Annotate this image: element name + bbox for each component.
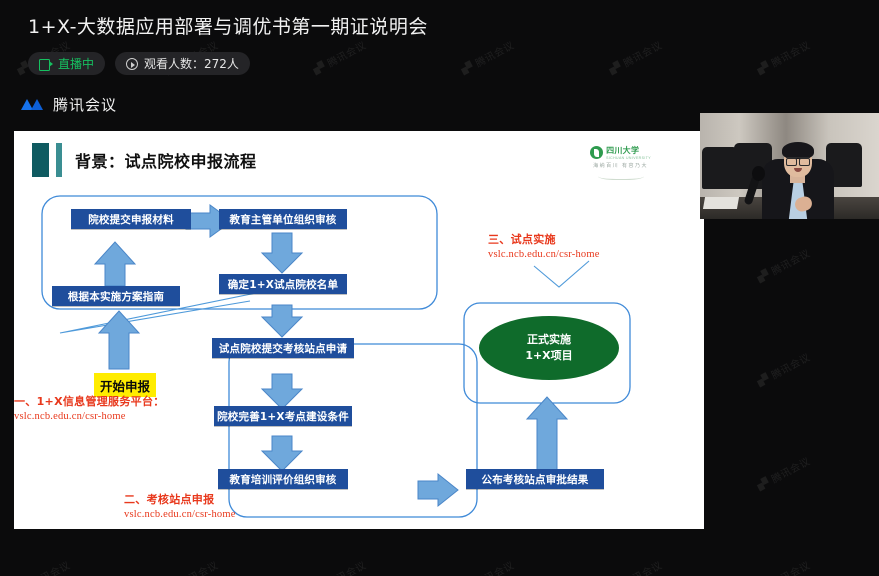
final-node-line2: 1+X项目 [525,348,572,364]
watermark-item: 腾讯会议 [162,557,220,576]
video-presenter-glasses [786,157,810,164]
annotation-note-3-url[interactable]: vslc.ncb.edu.cn/csr-home [488,249,600,260]
flow-node-confirm-pilot-list[interactable]: 确定1+X试点院校名单 [219,274,347,294]
presenter-video[interactable] [700,113,879,219]
watermark-item: 腾讯会议 [458,557,516,576]
watermark-item: 腾讯会议 [754,245,812,285]
flow-node-station-application[interactable]: 试点院校提交考核站点申请 [212,338,354,358]
stream-title: 1+X-大数据应用部署与调优书第一期证说明会 [28,14,879,40]
annotation-note-1: 一、1+X信息管理服务平台： vslc.ncb.edu.cn/csr-home [14,393,165,422]
watermark-text: 腾讯会议 [28,557,72,576]
live-stream-page: 腾讯会议腾讯会议腾讯会议腾讯会议腾讯会议腾讯会议腾讯会议腾讯会议腾讯会议腾讯会议… [0,0,879,576]
annotation-note-3-head: 三、试点实施 [488,231,600,247]
video-microphone-head [752,166,765,181]
annotation-note-1-url[interactable]: vslc.ncb.edu.cn/csr-home [14,411,165,422]
brand-name-label: 腾讯会议 [53,94,117,115]
flow-node-implementation-guide[interactable]: 根据本实施方案指南 [52,286,180,306]
annotation-note-2-head: 二、考核站点申报 [124,491,236,507]
stream-header: 1+X-大数据应用部署与调优书第一期证说明会 直播中 观看人数：272人 [0,0,879,88]
tencent-meeting-logo [22,96,44,112]
final-node-line1: 正式实施 [527,332,571,348]
video-chair [702,147,738,189]
watermark-text: 腾讯会议 [620,557,664,576]
play-circle-icon [126,58,138,70]
live-badge-label: 直播中 [58,55,94,72]
watermark-item: 腾讯会议 [310,557,368,576]
watermark-item: 腾讯会议 [754,453,812,493]
viewer-count-label: 观看人数：272人 [144,55,239,72]
flow-node-improve-site-conditions[interactable]: 院校完善1+X考点建设条件 [214,406,352,426]
video-papers [703,197,739,209]
watermark-item: 腾讯会议 [754,349,812,389]
watermark-item: 腾讯会议 [606,557,664,576]
video-camera-icon [39,59,52,69]
watermark-text: 腾讯会议 [176,557,220,576]
shared-slide[interactable]: 背景：试点院校申报流程 四川大学 SICHUAN UNIVERSITY 海纳百川… [14,131,704,529]
tencent-meeting-watermark-logo [755,372,772,388]
tencent-meeting-watermark-logo [755,268,772,284]
flow-node-publish-results[interactable]: 公布考核站点审批结果 [466,469,604,489]
watermark-text: 腾讯会议 [472,557,516,576]
watermark-text: 腾讯会议 [324,557,368,576]
watermark-text: 腾讯会议 [768,245,812,278]
tencent-meeting-brand: 腾讯会议 [0,88,879,120]
watermark-text: 腾讯会议 [768,349,812,382]
flow-node-submit-materials[interactable]: 院校提交申报材料 [71,209,191,229]
annotation-note-2: 二、考核站点申报 vslc.ncb.edu.cn/csr-home [124,491,236,520]
watermark-item: 腾讯会议 [14,557,72,576]
tencent-meeting-watermark-logo [755,476,772,492]
live-status-badge: 直播中 [28,52,105,75]
viewer-count-badge: 观看人数：272人 [115,52,250,75]
annotation-note-1-head: 一、1+X信息管理服务平台： [14,393,165,409]
flow-node-formal-implementation[interactable]: 正式实施 1+X项目 [479,316,619,380]
annotation-note-3: 三、试点实施 vslc.ncb.edu.cn/csr-home [488,231,600,260]
flow-diagram: 院校提交申报材料 教育主管单位组织审核 确定1+X试点院校名单 根据本实施方案指… [14,131,704,529]
annotation-note-2-url[interactable]: vslc.ncb.edu.cn/csr-home [124,509,236,520]
watermark-item: 腾讯会议 [754,557,812,576]
watermark-text: 腾讯会议 [768,557,812,576]
flow-node-authority-review[interactable]: 教育主管单位组织审核 [219,209,347,229]
stream-badges: 直播中 观看人数：272人 [28,52,879,75]
watermark-text: 腾讯会议 [768,453,812,486]
flow-node-training-org-review[interactable]: 教育培训评价组织审核 [218,469,348,489]
